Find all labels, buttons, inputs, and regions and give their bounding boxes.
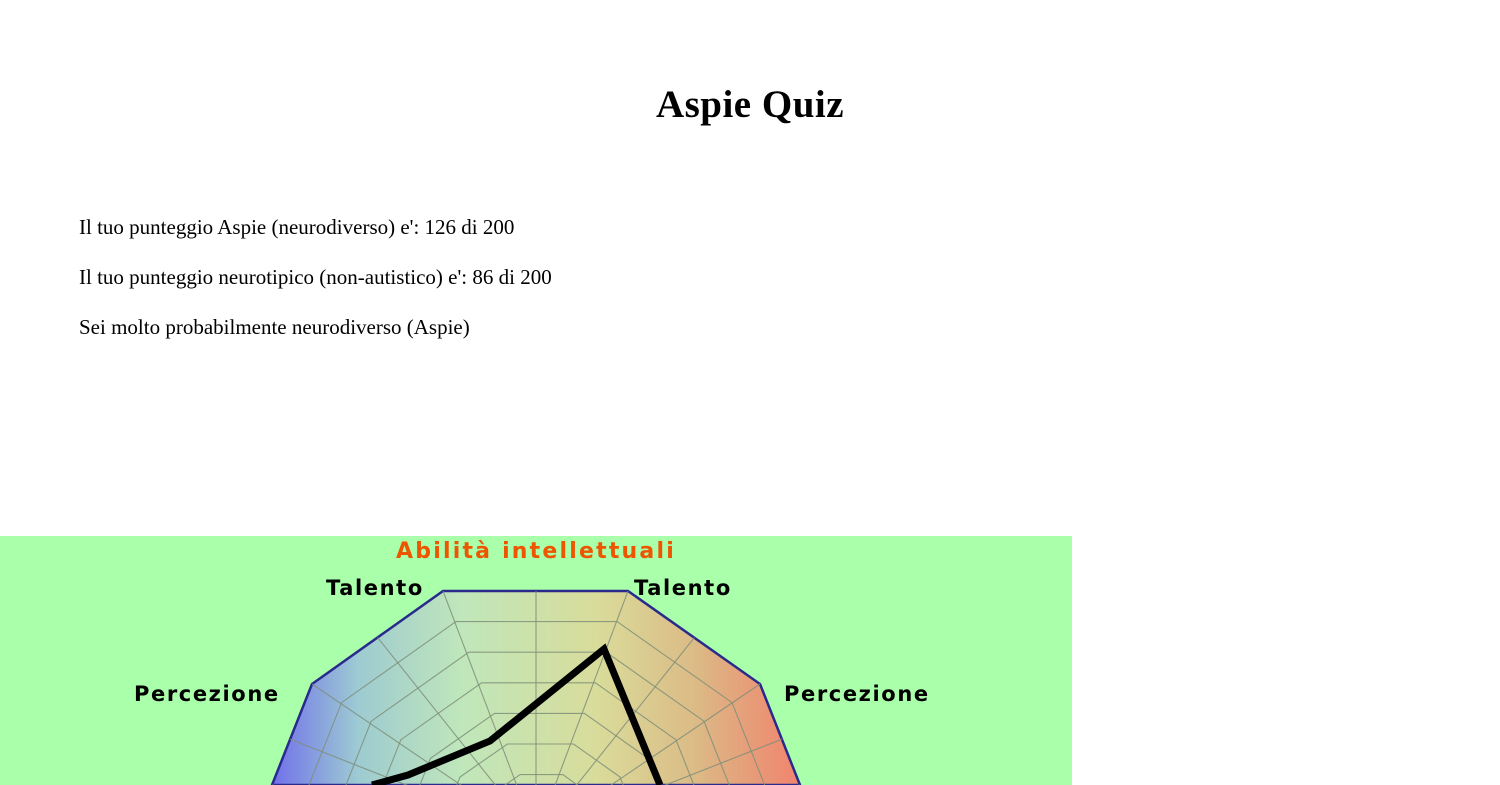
- radar-fill: [272, 576, 814, 785]
- axis-label-talento-right: Talento: [634, 576, 732, 600]
- page-title: Aspie Quiz: [0, 82, 1500, 128]
- axis-label-percezione-right: Percezione: [784, 682, 930, 706]
- radar-chart-graphic: [0, 536, 1072, 785]
- result-line-neurotypical-score: Il tuo punteggio neurotipico (non-autist…: [79, 252, 979, 302]
- result-line-aspie-score: Il tuo punteggio Aspie (neurodiverso) e'…: [79, 202, 979, 252]
- results-block: Il tuo punteggio Aspie (neurodiverso) e'…: [79, 202, 979, 352]
- axis-label-talento-left: Talento: [326, 576, 424, 600]
- result-line-conclusion: Sei molto probabilmente neurodiverso (As…: [79, 302, 979, 352]
- axis-label-percezione-left: Percezione: [134, 682, 280, 706]
